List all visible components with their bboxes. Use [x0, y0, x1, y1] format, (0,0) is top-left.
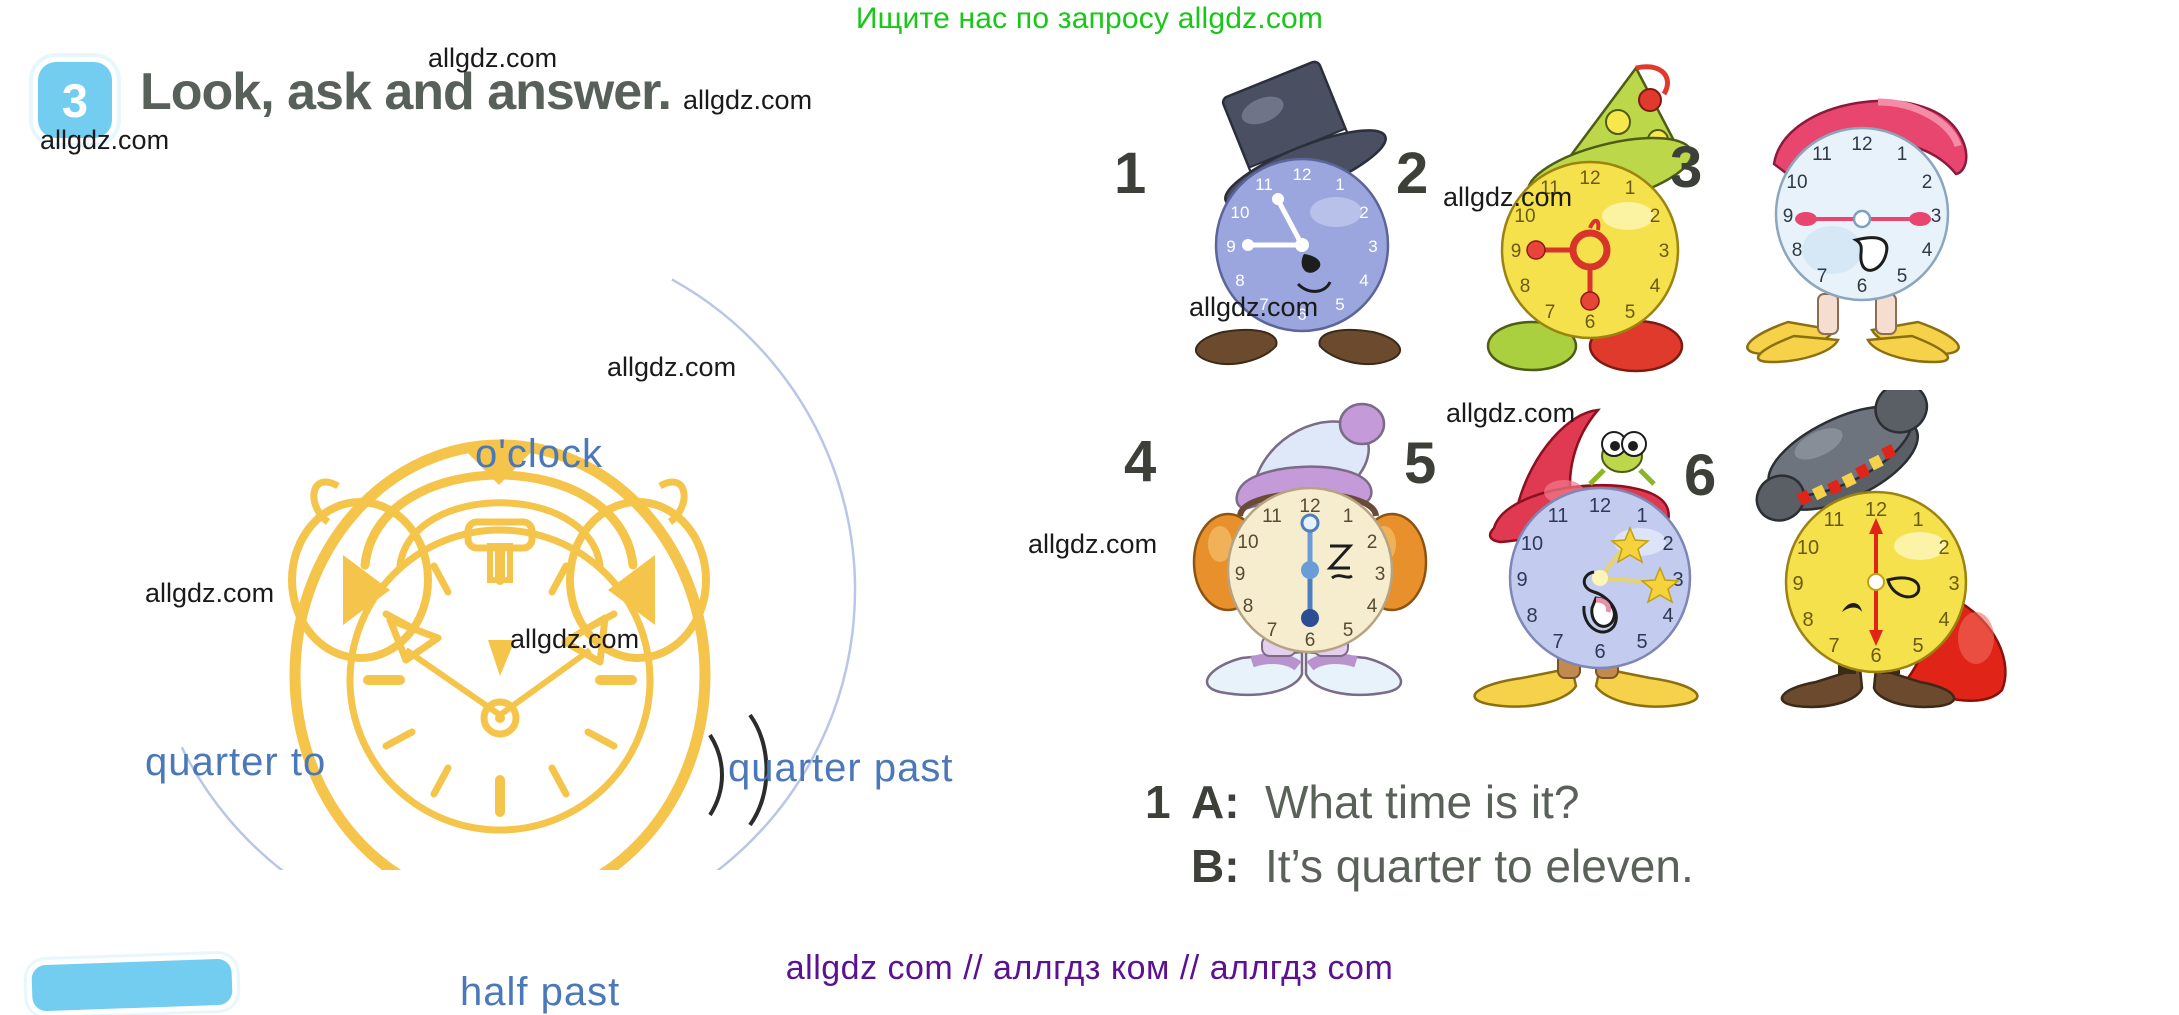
exercise-title: Look, ask and answer.: [140, 62, 671, 122]
clock-label-2: 2: [1396, 140, 1428, 207]
site-promo-banner-top: Ищите нас по запросу allgdz.com: [0, 2, 2179, 36]
svg-text:1: 1: [1343, 506, 1354, 527]
watermark-9: allgdz.com: [145, 578, 274, 609]
svg-text:1: 1: [1636, 505, 1647, 527]
dialogue-item-number: 1: [1145, 775, 1191, 829]
label-quarter-past: quarter past: [728, 746, 953, 791]
svg-text:4: 4: [1359, 271, 1368, 290]
svg-text:10: 10: [1231, 203, 1250, 222]
svg-text:1: 1: [1625, 178, 1636, 199]
watermark-1: allgdz.com: [428, 43, 557, 74]
watermark-3: allgdz.com: [683, 85, 812, 116]
svg-text:6: 6: [1594, 641, 1605, 663]
svg-text:2: 2: [1922, 172, 1933, 193]
svg-text:7: 7: [1267, 620, 1278, 641]
svg-text:8: 8: [1520, 276, 1531, 297]
clock-character-1: 1 1212 345 678 91011: [1120, 60, 1420, 380]
clock-character-2: 2 1212 345 678 91011: [1402, 60, 1702, 380]
svg-text:5: 5: [1912, 635, 1923, 657]
svg-text:5: 5: [1636, 631, 1647, 653]
svg-text:5: 5: [1897, 266, 1908, 287]
svg-text:12: 12: [1865, 499, 1887, 521]
svg-text:9: 9: [1792, 573, 1803, 595]
svg-text:11: 11: [1255, 175, 1273, 194]
svg-text:3: 3: [1659, 241, 1670, 262]
clock-characters-grid: 1 1212 345 678 91011: [1120, 60, 2130, 760]
watermark-5: allgdz.com: [1443, 182, 1572, 213]
svg-text:7: 7: [1545, 302, 1556, 323]
dialogue-text-a: What time is it?: [1265, 775, 1579, 829]
label-oclock: o'clock: [475, 432, 603, 477]
watermark-10: allgdz.com: [510, 624, 639, 655]
svg-text:5: 5: [1625, 302, 1636, 323]
svg-text:10: 10: [1786, 172, 1807, 193]
svg-text:10: 10: [1237, 532, 1258, 553]
clock-label-5: 5: [1404, 430, 1436, 497]
svg-text:8: 8: [1526, 605, 1537, 627]
svg-text:1: 1: [1897, 144, 1908, 165]
site-promo-banner-bottom: allgdz com // аллгдз ком // аллгдз com: [0, 949, 2179, 988]
dialogue-speaker-a: A:: [1191, 775, 1265, 829]
svg-text:11: 11: [1262, 506, 1282, 527]
svg-text:8: 8: [1243, 596, 1254, 617]
svg-text:6: 6: [1585, 312, 1596, 333]
svg-text:6: 6: [1857, 276, 1868, 297]
svg-text:11: 11: [1824, 509, 1845, 531]
svg-text:4: 4: [1662, 605, 1673, 627]
svg-text:11: 11: [1812, 144, 1832, 165]
clock-3-illustration: 1212 345 678 91011: [1728, 54, 1998, 384]
dialogue-example: 1 A: What time is it? B: It’s quarter to…: [1145, 775, 1945, 903]
svg-text:3: 3: [1948, 573, 1959, 595]
clock-character-6: 6: [1690, 390, 2010, 730]
dialogue-row-b: B: It’s quarter to eleven.: [1145, 839, 1945, 893]
svg-text:9: 9: [1783, 206, 1794, 227]
clock-label-6: 6: [1684, 442, 1716, 509]
watermark-7: allgdz.com: [1446, 398, 1575, 429]
svg-text:4: 4: [1922, 240, 1933, 261]
svg-text:9: 9: [1516, 569, 1527, 591]
svg-text:11: 11: [1548, 505, 1569, 527]
svg-text:12: 12: [1579, 168, 1600, 189]
svg-text:6: 6: [1305, 630, 1316, 651]
svg-text:7: 7: [1817, 266, 1828, 287]
clock-label-4: 4: [1124, 428, 1156, 495]
clock-character-5: 5 1212 345 678 91011: [1410, 392, 1720, 732]
svg-text:10: 10: [1521, 533, 1543, 555]
svg-text:9: 9: [1511, 241, 1522, 262]
svg-text:9: 9: [1235, 564, 1246, 585]
svg-text:4: 4: [1367, 596, 1378, 617]
svg-text:4: 4: [1938, 609, 1949, 631]
clock-character-4: 4 1212 345 678 91011: [1132, 390, 1432, 730]
watermark-6: allgdz.com: [1189, 292, 1318, 323]
clock-6-illustration: 1212 345 678 91011: [1734, 390, 2024, 730]
svg-text:10: 10: [1797, 537, 1819, 559]
svg-text:5: 5: [1335, 295, 1344, 314]
svg-text:2: 2: [1367, 532, 1378, 553]
watermark-4: allgdz.com: [607, 352, 736, 383]
svg-text:2: 2: [1359, 203, 1368, 222]
svg-text:7: 7: [1828, 635, 1839, 657]
svg-text:3: 3: [1375, 564, 1386, 585]
label-quarter-to: quarter to: [145, 740, 326, 785]
dialogue-speaker-b: B:: [1191, 839, 1265, 893]
dialogue-row-a: 1 A: What time is it?: [1145, 775, 1945, 829]
clock-1-illustration: 1212 345 678 91011: [1168, 60, 1428, 380]
svg-text:12: 12: [1293, 165, 1312, 184]
svg-text:8: 8: [1802, 609, 1813, 631]
svg-text:6: 6: [1870, 645, 1881, 667]
watermark-8: allgdz.com: [1028, 529, 1157, 560]
svg-text:2: 2: [1650, 206, 1661, 227]
svg-text:8: 8: [1235, 271, 1244, 290]
clock-character-3: 3 1212 345 678 91011: [1680, 54, 1990, 384]
watermark-2: allgdz.com: [40, 125, 169, 156]
clock-label-3: 3: [1670, 134, 1702, 201]
svg-text:1: 1: [1335, 175, 1344, 194]
svg-text:12: 12: [1589, 495, 1611, 517]
svg-text:12: 12: [1851, 134, 1872, 155]
alarm-clock-diagram: o'clock quarter to quarter past half pas…: [60, 170, 1000, 870]
svg-text:5: 5: [1343, 620, 1354, 641]
svg-text:1: 1: [1912, 509, 1923, 531]
svg-text:9: 9: [1226, 237, 1235, 256]
svg-text:7: 7: [1552, 631, 1563, 653]
dialogue-text-b: It’s quarter to eleven.: [1265, 839, 1694, 893]
svg-text:2: 2: [1662, 533, 1673, 555]
svg-text:4: 4: [1650, 276, 1661, 297]
svg-text:8: 8: [1792, 240, 1803, 261]
svg-text:3: 3: [1931, 206, 1942, 227]
clock-label-1: 1: [1114, 140, 1146, 207]
svg-text:3: 3: [1368, 237, 1377, 256]
svg-text:2: 2: [1938, 537, 1949, 559]
